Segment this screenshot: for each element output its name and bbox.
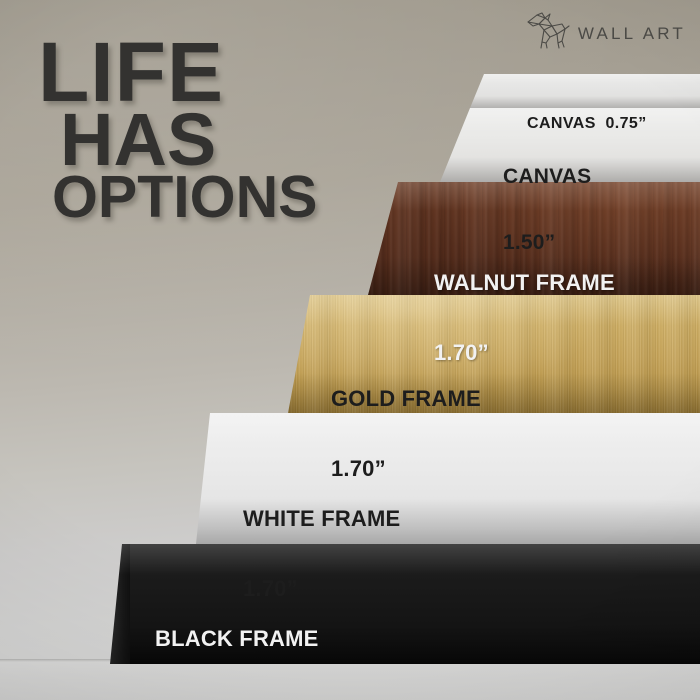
headline: LIFE HAS OPTIONS: [38, 36, 378, 223]
product-label-black-frame-line1: BLACK FRAME: [155, 627, 319, 650]
product-label-walnut-frame-line1: WALNUT FRAME: [434, 271, 615, 294]
origami-goat-icon: [524, 12, 570, 55]
product-label-black-frame: BLACK FRAME 1.70”: [155, 580, 319, 700]
product-label-black-frame-line2: 1.70”: [155, 697, 319, 700]
headline-line-3: OPTIONS: [52, 172, 378, 223]
product-options-poster: LIFE HAS OPTIONS WA: [0, 0, 700, 700]
product-label-gold-frame-line1: GOLD FRAME: [331, 387, 481, 410]
brand-logo: WALL ART: [524, 12, 686, 55]
product-label-canvas-150-line1: CANVAS: [503, 166, 591, 188]
background-floor: [0, 660, 700, 700]
brand-name: WALL ART: [578, 24, 686, 44]
product-label-white-frame-line1: WHITE FRAME: [243, 507, 400, 530]
